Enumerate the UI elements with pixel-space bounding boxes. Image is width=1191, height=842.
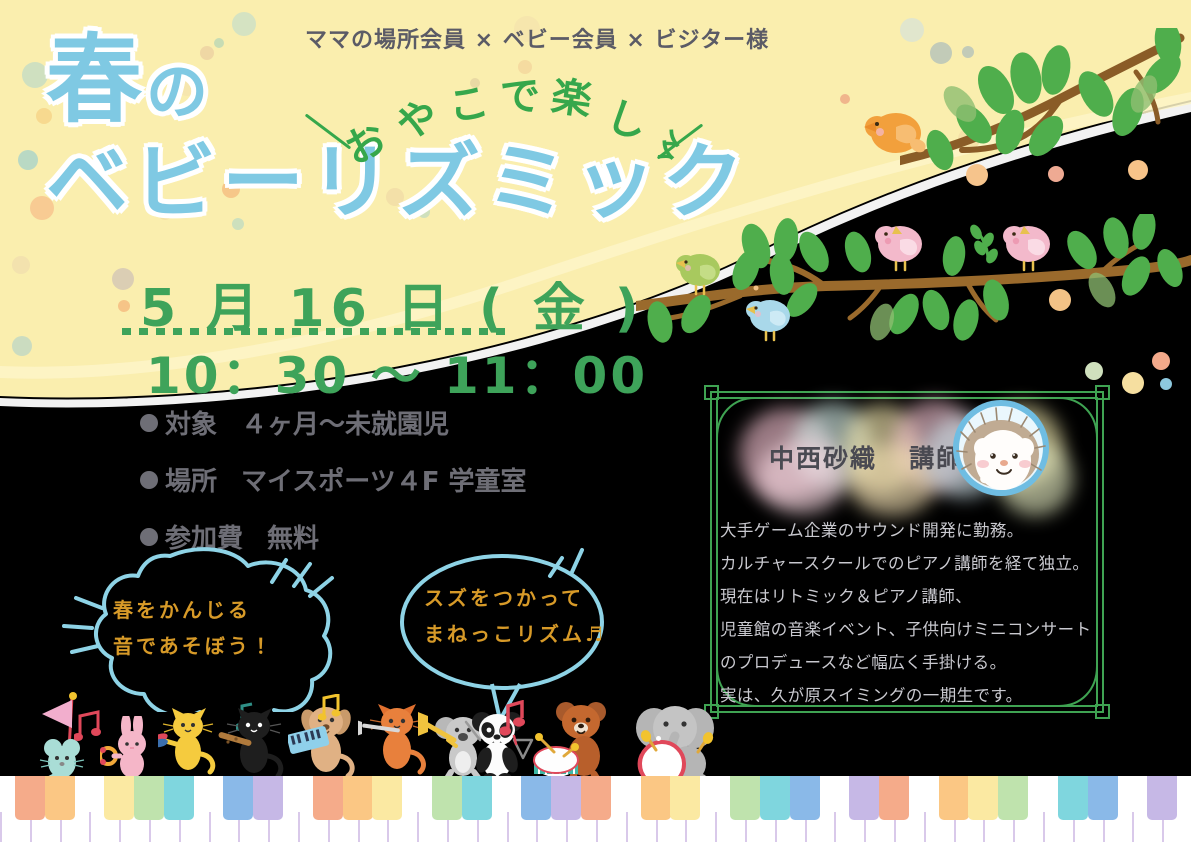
pink-bird [1000, 222, 1058, 272]
info-label: 対象 [165, 404, 217, 441]
piano-black-key [670, 776, 700, 820]
confetti-dot [1122, 372, 1144, 394]
bubble-right-line1: スズをつかって [424, 580, 584, 617]
bear-with-snare-drum [530, 694, 626, 784]
piano-black-key [521, 776, 551, 820]
piano-black-key [879, 776, 909, 820]
piano-black-key [1147, 776, 1177, 820]
instructor-panel: 中西砂織 講師 [697, 382, 1117, 722]
piano-white-key-separator [1132, 812, 1134, 842]
piano-black-key [968, 776, 998, 820]
bio-line: 現在はリトミック＆ピアノ講師、 [720, 580, 1120, 613]
piano-black-key [15, 776, 45, 820]
piano-black-key [581, 776, 611, 820]
piano-black-key [372, 776, 402, 820]
confetti-dot [18, 150, 38, 170]
piano-black-key [45, 776, 75, 820]
piano-black-key [551, 776, 581, 820]
piano-white-key-separator [298, 812, 300, 842]
bubble-left-line2: 音であそぼう！ [113, 628, 274, 665]
arch-char: 〻 [645, 115, 697, 174]
bullet-icon [140, 471, 158, 489]
confetti-dot [840, 94, 850, 104]
piano-black-key [790, 776, 820, 820]
piano-black-key [313, 776, 343, 820]
poster-root: ママの場所会員 × ベビー会員 × ビジター様 春の ベビーリズミック お や … [0, 0, 1191, 842]
piano-black-key [164, 776, 194, 820]
bio-line: カルチャースクールでのピアノ講師を経て独立。 [720, 547, 1120, 580]
green-bird [674, 248, 728, 296]
piano-black-key [939, 776, 969, 820]
arch-char: 楽 [548, 63, 596, 126]
yellow-cat-with-castanets [158, 708, 224, 780]
confetti-dot [1085, 362, 1103, 380]
info-row-target: 対象 ４ヶ月～未就園児 [140, 404, 527, 441]
piano-black-key [462, 776, 492, 820]
piano-black-key [343, 776, 373, 820]
blue-bird [744, 294, 798, 342]
rabbit-with-tambourine [100, 716, 160, 780]
confetti-dot [22, 62, 48, 88]
black-cat-with-flute [216, 706, 296, 780]
hedgehog-avatar [951, 398, 1051, 498]
info-row-venue: 場所 マイスポーツ４F 学童室 [140, 461, 527, 498]
piano-white-key-separator [834, 812, 836, 842]
info-label: 場所 [165, 461, 217, 498]
piano-white-key-separator [507, 812, 509, 842]
arch-char: や [388, 83, 444, 151]
piano-black-key [432, 776, 462, 820]
piano-white-key-separator [89, 812, 91, 842]
bio-line: 児童館の音楽イベント、子供向けミニコンサート [720, 613, 1120, 646]
piano-black-key [253, 776, 283, 820]
piano-white-key-separator [1043, 812, 1045, 842]
confetti-dot [118, 300, 130, 312]
piano-white-key-separator [417, 812, 419, 842]
bubble-right-line2: まねっこリズム♬ [424, 616, 606, 653]
instructor-name-text: 中西砂織 [769, 444, 877, 473]
piano-black-key [998, 776, 1028, 820]
instructor-name: 中西砂織 講師 [769, 439, 963, 475]
bio-line: 大手ゲーム企業のサウンド開発に勤務。 [720, 514, 1120, 547]
bio-line: のプロデュースなど幅広く手掛ける。 [720, 646, 1120, 679]
instructor-bio: 大手ゲーム企業のサウンド開発に勤務。 カルチャースクールでのピアノ講師を経て独立… [720, 514, 1120, 712]
piano-black-key [104, 776, 134, 820]
dotted-divider [122, 328, 512, 335]
elephant-with-bass-drum [620, 694, 730, 784]
confetti-dot [656, 736, 661, 741]
confetti-dot [1152, 352, 1170, 370]
title-particle-no: の [146, 55, 212, 128]
arch-char: し [600, 83, 656, 151]
arch-char: こ [443, 69, 492, 133]
bullet-icon [140, 414, 158, 432]
piano-keyboard-footer [0, 776, 1191, 842]
arch-catch-copy: お や こ で 楽 し 〻 [312, 60, 712, 170]
piano-black-key [760, 776, 790, 820]
confetti-dot [12, 256, 30, 274]
piano-black-key [849, 776, 879, 820]
arch-char: で [499, 63, 541, 122]
music-note-red [500, 700, 528, 738]
piano-black-key [1058, 776, 1088, 820]
piano-white-key-separator [626, 812, 628, 842]
piano-black-key [730, 776, 760, 820]
confetti-dot [12, 336, 32, 356]
piano-white-key-separator [715, 812, 717, 842]
piano-white-key-separator [924, 812, 926, 842]
bubble-left-line1: 春をかんじる [113, 592, 251, 629]
piano-black-key [223, 776, 253, 820]
confetti-dot [648, 752, 654, 758]
piano-black-key [1088, 776, 1118, 820]
confetti-dot [1160, 378, 1172, 390]
event-time: 10：30 ～ 11：00 [146, 336, 648, 408]
info-value: ４ヶ月～未就園児 [241, 404, 449, 441]
piano-black-key [134, 776, 164, 820]
tree-branch-upper [900, 28, 1191, 218]
piano-white-key-separator [209, 812, 211, 842]
bio-line: 実は、久が原スイミングの一期生です。 [720, 679, 1120, 712]
title-kanji-haru: 春 [46, 24, 146, 136]
piano-white-key-separator [0, 812, 2, 842]
piano-black-key [641, 776, 671, 820]
music-note-yellow [318, 694, 344, 724]
info-value: マイスポーツ４F 学童室 [241, 461, 527, 498]
orange-bird [862, 105, 928, 157]
confetti-dot [112, 268, 134, 290]
pink-bird [872, 222, 930, 272]
